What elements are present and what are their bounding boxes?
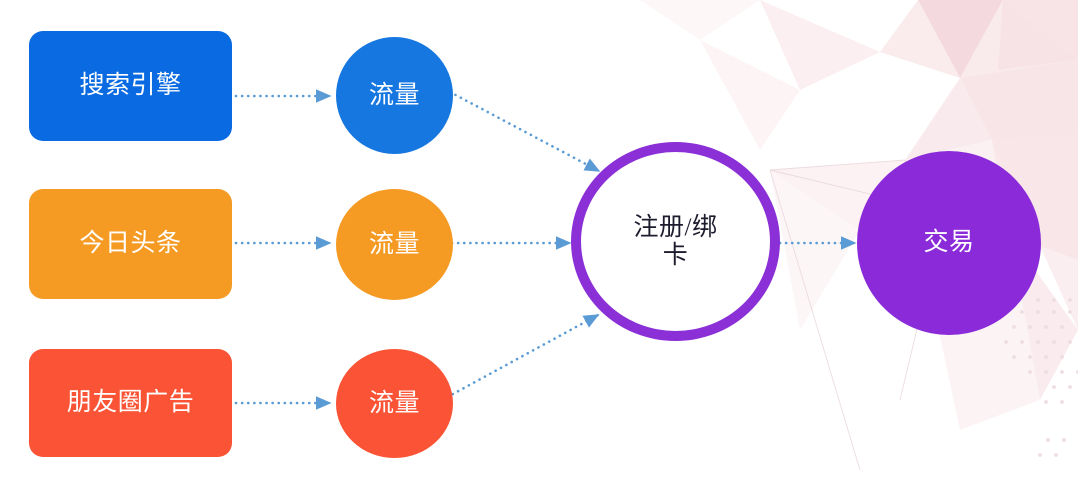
node-search-engine[interactable]: 搜索引擎 <box>29 31 232 141</box>
node-label-traffic-search: 流量 <box>369 82 420 110</box>
node-label-traffic-moments: 流量 <box>369 390 420 418</box>
node-label-traffic-toutiao: 流量 <box>369 231 420 259</box>
edge-traffic-moments-to-register <box>442 315 598 400</box>
node-label-moments-ad: 朋友圈广告 <box>67 389 195 417</box>
node-register-bindcard[interactable]: 注册/绑 卡 <box>571 142 780 341</box>
node-traffic-moments[interactable]: 流量 <box>336 349 453 458</box>
diagram-canvas: 搜索引擎 今日头条 朋友圈广告 流量 流量 流量 注册/绑 卡 交易 <box>0 0 1078 486</box>
node-label-register-bindcard: 注册/绑 卡 <box>634 214 718 270</box>
node-transaction[interactable]: 交易 <box>857 151 1041 335</box>
node-traffic-toutiao[interactable]: 流量 <box>336 189 453 300</box>
node-label-toutiao: 今日头条 <box>79 230 181 258</box>
node-toutiao[interactable]: 今日头条 <box>29 189 232 299</box>
edge-traffic-search-to-register <box>450 92 599 171</box>
node-label-transaction: 交易 <box>923 229 974 257</box>
node-traffic-search[interactable]: 流量 <box>336 37 453 154</box>
node-moments-ad[interactable]: 朋友圈广告 <box>29 349 232 457</box>
node-label-search-engine: 搜索引擎 <box>79 72 181 100</box>
